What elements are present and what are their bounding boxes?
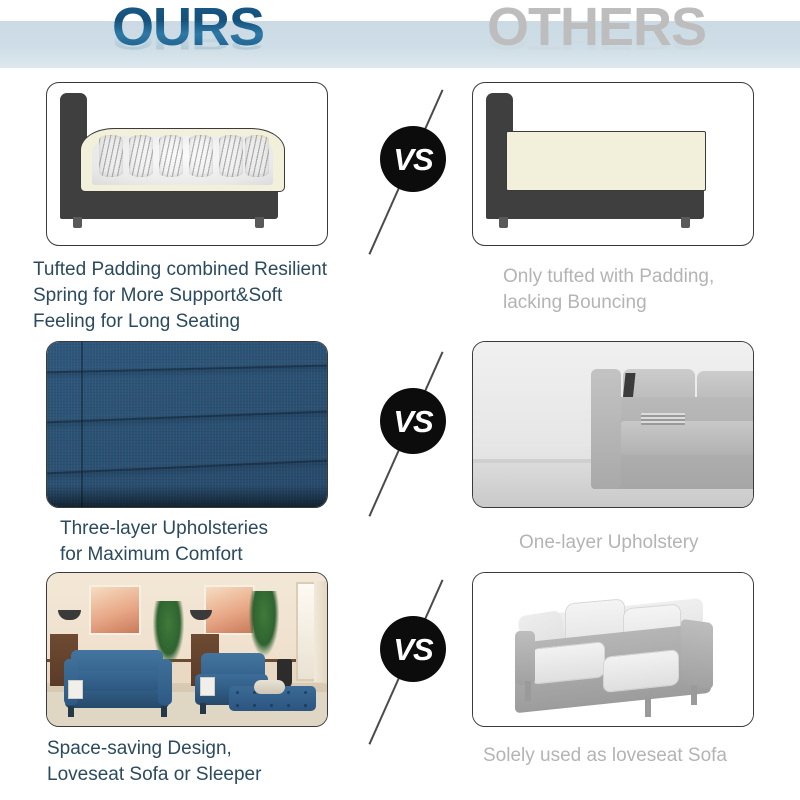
gray-sofa-arm: [591, 369, 621, 489]
bed-leg-left: [73, 217, 82, 228]
loveseat-seat: [75, 671, 159, 691]
coil-spring: [245, 135, 269, 177]
fabric-texture: [47, 342, 327, 507]
gray-sofa-seat: [619, 421, 754, 455]
vs-badge: VS: [380, 616, 446, 682]
comparison-row-3: VS Space-saving Design, Loveseat Sofa or…: [0, 564, 800, 800]
sofa-leg: [691, 685, 697, 705]
window-curtain: [314, 581, 327, 682]
gray-sofa-arm-left: [515, 631, 535, 685]
loveseat-mode-photo: [47, 573, 187, 726]
bed-base: [486, 188, 704, 219]
versus-divider-3: VS: [355, 564, 465, 754]
product-tag: [200, 677, 215, 696]
ours-title: OURS: [112, 0, 264, 56]
coil-spring: [99, 135, 123, 177]
vs-badge-label: VS: [393, 634, 432, 665]
ours-image-card-1: [46, 82, 328, 246]
bed-leg-right: [255, 217, 264, 228]
coil-spring: [219, 135, 243, 177]
ours-caption-1: Tufted Padding combined Resilient Spring…: [33, 257, 363, 335]
gray-loveseat-sofa-photo-illustration: [473, 573, 753, 726]
blue-three-layer-upholstery-closeup-illustration: [47, 342, 327, 507]
vs-badge: VS: [380, 388, 446, 454]
others-image-card-1: [472, 82, 754, 246]
others-image-card-3: [472, 572, 754, 727]
blue-loveseat-and-sleeper-split-photo-illustration: [47, 573, 327, 726]
sofa-leg: [200, 703, 206, 714]
stack-of-books: [641, 413, 685, 425]
fabric-bottom-shadow: [47, 485, 327, 507]
loveseat-arm-right: [158, 659, 172, 705]
gray-sofa-arm-right: [681, 619, 713, 689]
ours-image-card-3: [46, 572, 328, 727]
sofa-leg: [645, 697, 651, 717]
others-image-card-2: [472, 341, 754, 508]
comparison-header: OURS OTHERS OURS OTHERS: [0, 0, 800, 72]
versus-divider-1: VS: [355, 74, 465, 264]
coil-spring: [129, 135, 153, 177]
vs-badge-label: VS: [393, 406, 432, 437]
versus-divider-2: VS: [355, 336, 465, 526]
comparison-row-1: VS Tufted Padding combined Resilient Spr…: [0, 74, 800, 334]
gray-one-layer-sofa-photo-illustration: [473, 342, 753, 507]
others-caption-2: One-layer Upholstery: [519, 530, 800, 556]
potted-plant: [249, 591, 280, 655]
vs-badge: VS: [380, 126, 446, 192]
flat-padding-mattress: [506, 131, 706, 191]
spring-mattress: [80, 128, 285, 192]
coil-spring: [159, 135, 183, 177]
folded-blanket: [254, 680, 285, 694]
bed-leg-left: [499, 217, 508, 228]
vs-badge-label: VS: [393, 144, 432, 175]
wall-art: [89, 585, 141, 635]
comparison-row-2: VS Three-layer Upholsteries for Maximum …: [0, 336, 800, 564]
ours-caption-2: Three-layer Upholsteries for Maximum Com…: [60, 516, 370, 568]
bed-leg-right: [681, 217, 690, 228]
ours-image-card-2: [46, 341, 328, 508]
ours-caption-3: Space-saving Design, Loveseat Sofa or Sl…: [47, 736, 367, 788]
sleeper-mode-photo: [187, 573, 327, 726]
sofa-leg: [68, 706, 74, 717]
others-caption-3: Solely used as loveseat Sofa: [483, 743, 793, 769]
others-caption-1: Only tufted with Padding, lacking Bounci…: [503, 264, 793, 316]
product-tag: [68, 680, 83, 699]
bed-cross-section-flat-padding-illustration: [473, 83, 753, 245]
bed-cross-section-with-coil-springs-illustration: [47, 83, 327, 245]
bed-base: [60, 188, 278, 219]
others-title: OTHERS: [487, 0, 706, 56]
sofa-leg: [525, 681, 531, 701]
sofa-leg: [161, 706, 167, 717]
coil-spring: [189, 135, 213, 177]
